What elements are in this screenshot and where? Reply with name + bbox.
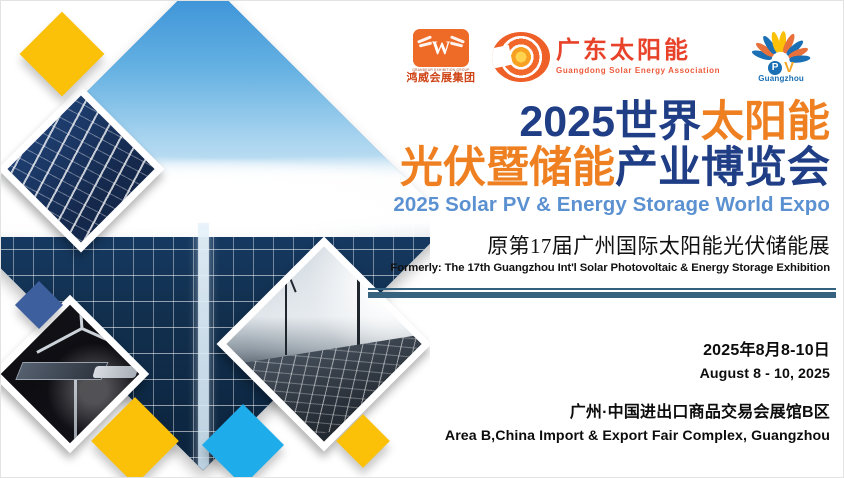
grandeur-mark-letter: W [418,39,464,58]
title-line2-orange: 光伏暨储能 [400,144,615,192]
logo-row: W GRANDEUR EXHIBITION GROUP 鸿威会展集团 广东太阳能… [404,26,836,88]
pv-v-letter: V [784,60,794,75]
grandeur-chinese-name: 鸿威会展集团 [407,72,476,84]
event-info: 2025年8月8-10日 August 8 - 10, 2025 广州·中国进出… [360,336,830,444]
pv-guangzhou-logo: P V Guangzhou [742,29,820,85]
title-line-1: 2025世界太阳能 [360,100,830,146]
pv-city-label: Guangzhou [742,74,820,83]
sun-swirl-icon [492,32,550,82]
former-name-english: Formerly: The 17th Guangzhou Int'l Solar… [360,262,830,274]
event-venue-chinese: 广州·中国进出口商品交易会展馆B区 [360,398,830,422]
event-title: 2025世界太阳能 光伏暨储能产业博览会 2025 Solar PV & Ene… [360,100,830,217]
title-line1-orange: 太阳能 [701,98,830,146]
gsea-chinese-name: 广东太阳能 [556,39,720,64]
event-venue-english: Area B,China Import & Export Fair Comple… [360,428,830,444]
rule-thick-line [368,292,836,298]
title-line-2: 光伏暨储能产业博览会 [360,146,830,192]
pv-p-letter: P [768,61,782,75]
horizontal-rule [368,288,836,298]
gsea-english-name: Guangdong Solar Energy Association [556,66,720,75]
yellow-diamond-top-left [20,12,105,97]
expo-poster: W GRANDEUR EXHIBITION GROUP 鸿威会展集团 广东太阳能… [0,0,844,478]
event-date-english: August 8 - 10, 2025 [360,366,830,382]
title-line1-navy: 2025世界 [519,98,701,146]
grandeur-exhibition-group-logo: W GRANDEUR EXHIBITION GROUP 鸿威会展集团 [404,29,478,84]
event-date-chinese: 2025年8月8-10日 [360,336,830,360]
title-line2-navy: 产业博览会 [615,144,830,192]
grandeur-wing-mark-icon: W [413,29,469,67]
former-name-chinese: 原第17届广州国际太阳能光伏储能展 [360,230,830,260]
title-english: 2025 Solar PV & Energy Storage World Exp… [360,193,830,217]
guangdong-solar-energy-association-logo: 广东太阳能 Guangdong Solar Energy Association [492,32,720,82]
former-name-block: 原第17届广州国际太阳能光伏储能展 Formerly: The 17th Gua… [360,230,830,274]
rule-thin-line [368,288,836,290]
